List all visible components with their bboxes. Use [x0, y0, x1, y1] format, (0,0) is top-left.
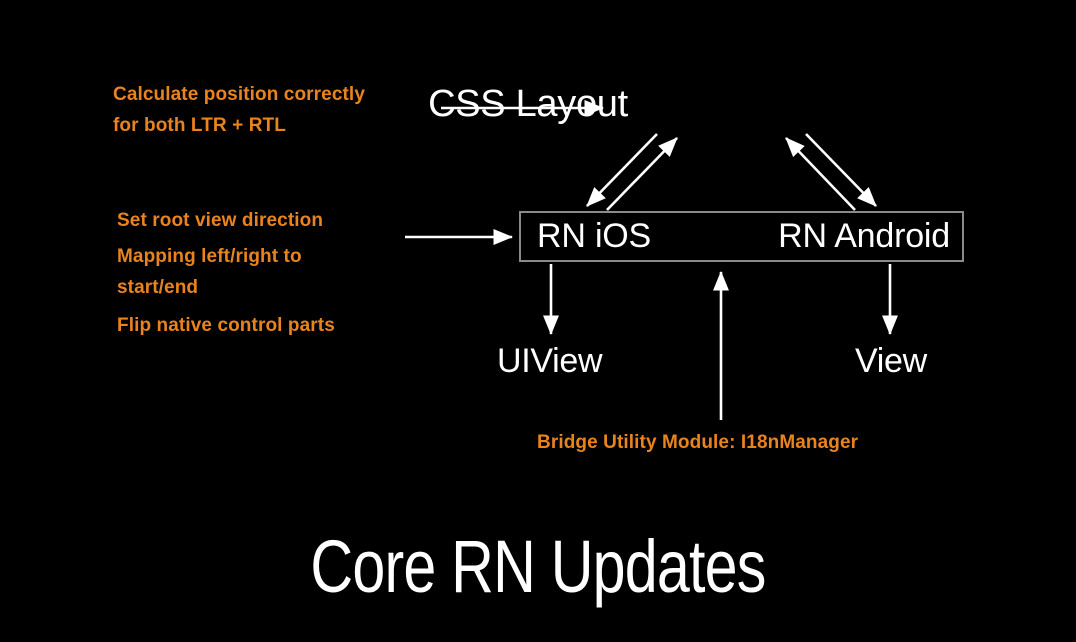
annotation-root-view-direction: Set root view direction [117, 206, 323, 237]
slide-canvas: Calculate position correctly for both LT… [0, 0, 1076, 642]
arrow-rn-android-to-css-layout [786, 138, 855, 210]
node-rn-android: RN Android [778, 217, 950, 256]
arrow-css-layout-to-rn-android [806, 134, 876, 206]
node-css-layout: CSS Layout [0, 83, 1066, 126]
platform-box: RN iOS RN Android [519, 211, 964, 262]
node-uiview: UIView [497, 342, 602, 381]
annotation-bridge-utility-module: Bridge Utility Module: I18nManager [537, 428, 858, 459]
arrow-css-layout-to-rn-ios [587, 134, 657, 206]
slide-title: Core RN Updates [108, 524, 969, 609]
node-rn-ios: RN iOS [537, 217, 651, 256]
annotation-flip-native-controls: Flip native control parts [117, 311, 335, 342]
node-view: View [855, 342, 927, 381]
arrow-rn-ios-to-css-layout [607, 138, 677, 210]
annotation-left-right-mapping: Mapping left/right to start/end [117, 242, 302, 304]
